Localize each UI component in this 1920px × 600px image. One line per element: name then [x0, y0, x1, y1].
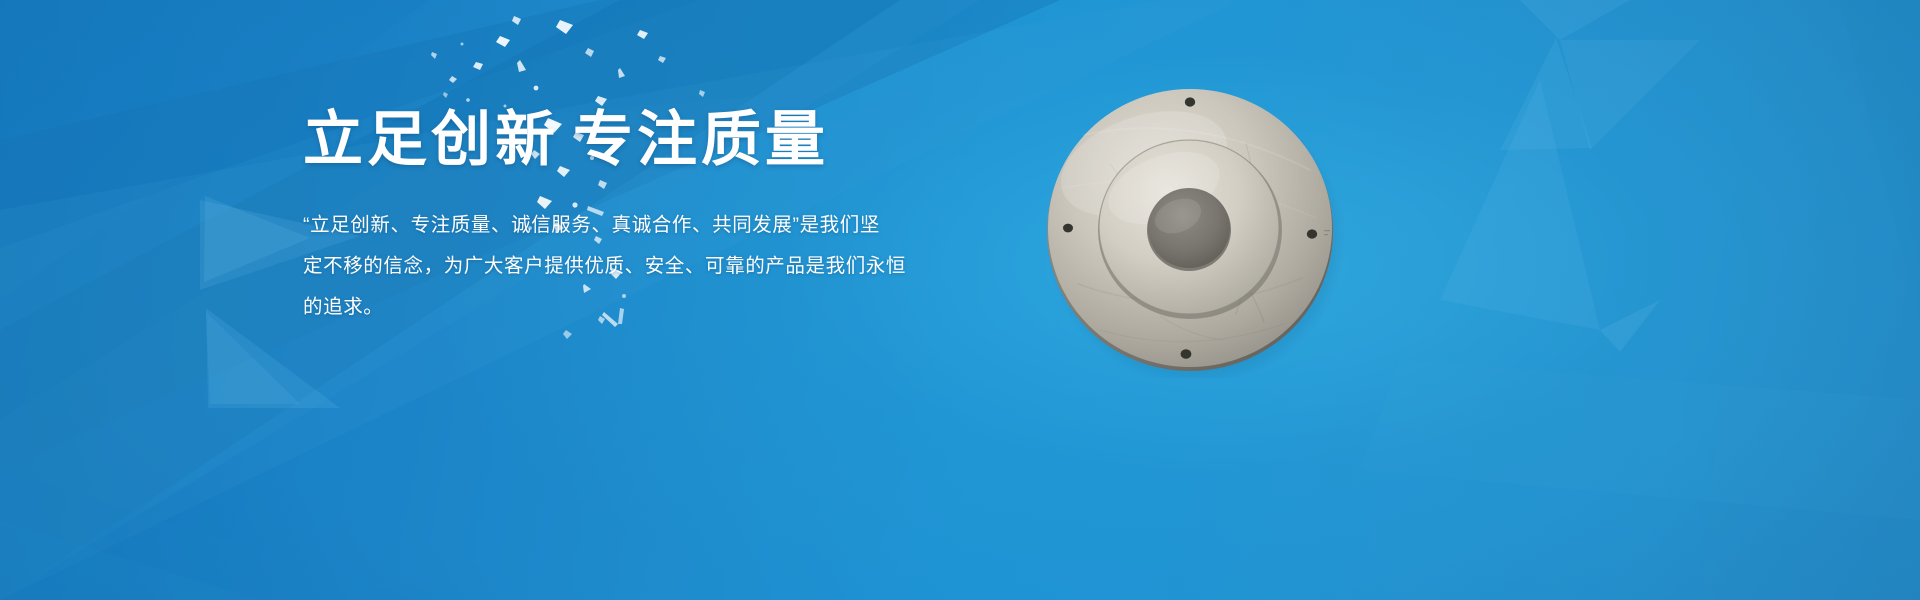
bolt-hole-right: [1307, 229, 1317, 238]
paragraph-line-1: “立足创新、专注质量、诚信服务、真诚合作、共同发展”是我们坚: [303, 205, 963, 246]
hero-banner: 立足创新专注质量 “立足创新、专注质量、诚信服务、真诚合作、共同发展”是我们坚 …: [0, 0, 1920, 600]
bolt-hole-top: [1185, 97, 1195, 106]
banner-headline: 立足创新专注质量: [303, 108, 963, 171]
banner-paragraph: “立足创新、专注质量、诚信服务、真诚合作、共同发展”是我们坚 定不移的信念，为广…: [303, 205, 963, 328]
paragraph-line-2: 定不移的信念，为广大客户提供优质、安全、可靠的产品是我们永恒: [303, 246, 963, 287]
bolt-hole-bottom: [1181, 349, 1192, 359]
headline-part-2: 专注质量: [573, 106, 829, 173]
bolt-hole-left: [1063, 224, 1073, 233]
paragraph-line-3: 的追求。: [303, 287, 963, 328]
banner-content: 立足创新专注质量 “立足创新、专注质量、诚信服务、真诚合作、共同发展”是我们坚 …: [303, 108, 963, 328]
headline-part-1: 立足创新: [303, 106, 559, 173]
product-image-metal-flange: [1040, 78, 1350, 378]
